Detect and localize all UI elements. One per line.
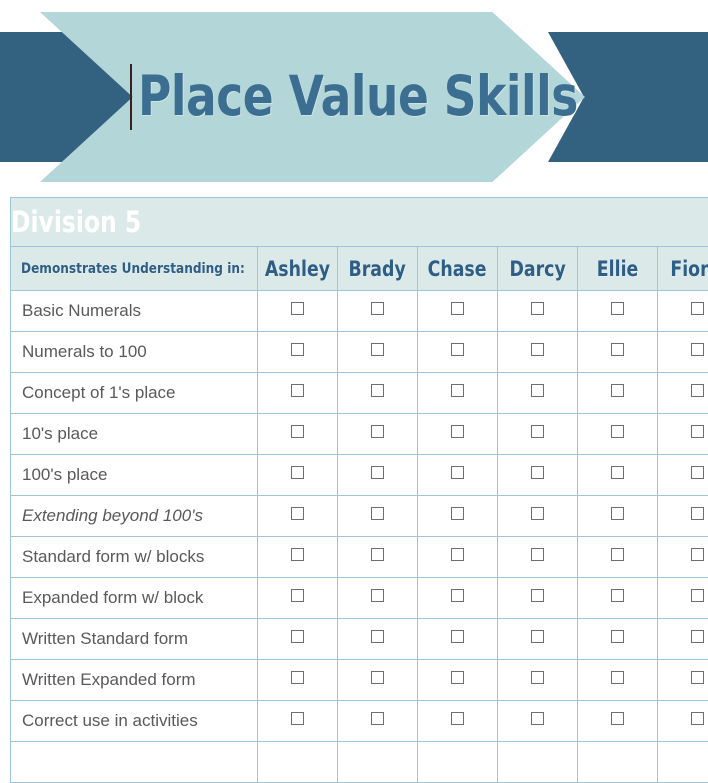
checkbox-cell[interactable] [498,373,578,414]
checkbox-icon[interactable] [451,548,464,561]
checkbox-icon[interactable] [371,466,384,479]
skill-label-cell: Written Expanded form [11,660,258,701]
skill-label-cell: Extending beyond 100's [11,496,258,537]
checkbox-cell[interactable] [418,414,498,455]
checkbox-icon[interactable] [611,630,624,643]
checkbox-cell[interactable] [418,332,498,373]
checkbox-icon[interactable] [291,343,304,356]
checkbox-cell[interactable] [338,619,418,660]
student-name-label: Fiona [671,257,708,281]
checkbox-cell[interactable] [258,660,338,701]
student-name-label: Darcy [509,257,565,281]
checkbox-cell[interactable] [577,578,657,619]
checkbox-cell[interactable] [657,660,708,701]
checkbox-cell[interactable] [258,373,338,414]
page-title: Place Value Skills [138,60,578,144]
checkbox-cell[interactable] [338,291,418,332]
checkbox-cell[interactable] [498,291,578,332]
checkbox-cell[interactable] [498,537,578,578]
checkbox-icon[interactable] [291,425,304,438]
checkbox-cell[interactable] [258,496,338,537]
checkbox-cell[interactable] [418,291,498,332]
checkbox-cell[interactable] [657,414,708,455]
checkbox-icon[interactable] [611,466,624,479]
table-row: 10's place [11,414,708,455]
table-row: Written Expanded form [11,660,708,701]
checkbox-cell[interactable] [577,332,657,373]
checkbox-icon[interactable] [611,425,624,438]
checkbox-cell[interactable] [258,742,338,783]
checkbox-icon[interactable] [531,302,544,315]
checkbox-cell[interactable] [338,332,418,373]
checkbox-icon[interactable] [611,343,624,356]
checkbox-cell[interactable] [418,455,498,496]
checkbox-icon[interactable] [691,630,704,643]
checkbox-cell[interactable] [258,619,338,660]
checkbox-icon[interactable] [531,630,544,643]
checkbox-icon[interactable] [611,548,624,561]
checkbox-icon[interactable] [611,589,624,602]
checkbox-cell[interactable] [577,496,657,537]
skill-label-cell [11,742,258,783]
skills-table: Division 5 Demonstrates Understanding in… [10,197,708,783]
checkbox-icon[interactable] [611,712,624,725]
skill-label-cell: Basic Numerals [11,291,258,332]
checkbox-cell[interactable] [577,660,657,701]
checkbox-icon[interactable] [451,343,464,356]
checkbox-icon[interactable] [691,548,704,561]
checkbox-cell[interactable] [577,742,657,783]
checkbox-cell[interactable] [657,373,708,414]
table-head: Division 5 Demonstrates Understanding in… [11,198,708,291]
checkbox-cell[interactable] [657,332,708,373]
student-column-header-ashley[interactable]: Ashley [258,247,338,291]
student-column-header-ellie[interactable]: Ellie [577,247,657,291]
skill-label-cell: Standard form w/ blocks [11,537,258,578]
checkbox-icon[interactable] [691,302,704,315]
student-column-header-brady[interactable]: Brady [338,247,418,291]
checkbox-icon[interactable] [291,671,304,684]
table-row: Extending beyond 100's [11,496,708,537]
skill-label-cell: Concept of 1's place [11,373,258,414]
checkbox-cell[interactable] [418,578,498,619]
checkbox-icon[interactable] [451,302,464,315]
checkbox-cell[interactable] [338,455,418,496]
checkbox-cell[interactable] [657,578,708,619]
table-row: Correct use in activities [11,701,708,742]
skill-label: Written Standard form [22,629,188,648]
skill-label: Written Expanded form [22,670,196,689]
skill-label-cell: Numerals to 100 [11,332,258,373]
checkbox-cell[interactable] [338,660,418,701]
checkbox-icon[interactable] [691,507,704,520]
checkbox-cell[interactable] [657,455,708,496]
student-name-label: Ashley [265,257,330,281]
checkbox-cell[interactable] [577,291,657,332]
checkbox-cell[interactable] [338,578,418,619]
checkbox-cell[interactable] [498,701,578,742]
table-row: 100's place [11,455,708,496]
skill-label: Extending beyond 100's [22,506,203,525]
checkbox-icon[interactable] [291,630,304,643]
student-column-header-fiona[interactable]: Fiona [657,247,708,291]
checkbox-cell[interactable] [577,701,657,742]
checkbox-icon[interactable] [451,630,464,643]
checkbox-icon[interactable] [371,548,384,561]
checkbox-icon[interactable] [451,671,464,684]
checkbox-cell[interactable] [258,332,338,373]
checkbox-icon[interactable] [451,384,464,397]
checkbox-icon[interactable] [291,384,304,397]
skill-label-cell: Expanded form w/ block [11,578,258,619]
division-header-cell: Division 5 [11,198,708,247]
checkbox-cell[interactable] [657,291,708,332]
checkbox-cell[interactable] [338,742,418,783]
skills-table-container: Division 5 Demonstrates Understanding in… [10,197,708,783]
table-row: Written Standard form [11,619,708,660]
checkbox-cell[interactable] [498,742,578,783]
checkbox-icon[interactable] [531,712,544,725]
checkbox-icon[interactable] [291,302,304,315]
checkbox-icon[interactable] [691,384,704,397]
table-row: Standard form w/ blocks [11,537,708,578]
skill-label-cell: Written Standard form [11,619,258,660]
checkbox-icon[interactable] [291,712,304,725]
division-label: Division 5 [11,205,141,239]
table-row: Numerals to 100 [11,332,708,373]
checkbox-cell[interactable] [418,660,498,701]
checkbox-icon[interactable] [611,302,624,315]
checkbox-cell[interactable] [338,537,418,578]
checkbox-icon[interactable] [611,671,624,684]
skill-label: Correct use in activities [22,711,198,730]
banner-title-group[interactable]: Place Value Skills [130,60,616,144]
checkbox-cell[interactable] [657,537,708,578]
checkbox-cell[interactable] [258,537,338,578]
student-column-header-darcy[interactable]: Darcy [498,247,578,291]
student-column-header-chase[interactable]: Chase [418,247,498,291]
checkbox-cell[interactable] [577,414,657,455]
checkbox-cell[interactable] [577,455,657,496]
skill-column-header-label: Demonstrates Understanding in: [21,261,245,277]
checkbox-cell[interactable] [258,291,338,332]
checkbox-icon[interactable] [291,466,304,479]
checkbox-cell[interactable] [338,701,418,742]
checkbox-icon[interactable] [291,507,304,520]
checkbox-icon[interactable] [291,589,304,602]
checkbox-cell[interactable] [498,332,578,373]
skill-label: Expanded form w/ block [22,588,203,607]
checkbox-cell[interactable] [498,455,578,496]
checkbox-icon[interactable] [371,671,384,684]
checkbox-icon[interactable] [371,589,384,602]
checkbox-icon[interactable] [451,466,464,479]
checkbox-cell[interactable] [258,578,338,619]
checkbox-icon[interactable] [371,343,384,356]
checkbox-icon[interactable] [371,507,384,520]
checkbox-icon[interactable] [371,384,384,397]
skill-label: Numerals to 100 [22,342,147,361]
skill-label-cell: 10's place [11,414,258,455]
checkbox-cell[interactable] [418,742,498,783]
checkbox-cell[interactable] [577,537,657,578]
student-name-label: Chase [428,257,487,281]
skill-label: Concept of 1's place [22,383,176,402]
checkbox-cell[interactable] [657,619,708,660]
checkbox-cell[interactable] [498,496,578,537]
skill-label: 100's place [22,465,107,484]
checkbox-icon[interactable] [371,712,384,725]
checkbox-icon[interactable] [531,548,544,561]
column-header-row: Demonstrates Understanding in: Ashley Br… [11,247,708,291]
checkbox-icon[interactable] [611,384,624,397]
checkbox-cell[interactable] [338,496,418,537]
table-body: Basic NumeralsNumerals to 100Concept of … [11,291,708,783]
checkbox-icon[interactable] [451,507,464,520]
checkbox-cell[interactable] [657,701,708,742]
checkbox-cell[interactable] [418,373,498,414]
checkbox-icon[interactable] [451,589,464,602]
checkbox-icon[interactable] [691,425,704,438]
checkbox-cell[interactable] [657,742,708,783]
checkbox-cell[interactable] [498,660,578,701]
student-name-label: Ellie [597,257,639,281]
page-banner: Place Value Skills [0,0,708,193]
checkbox-icon[interactable] [531,589,544,602]
checkbox-icon[interactable] [371,425,384,438]
checkbox-icon[interactable] [371,630,384,643]
checkbox-cell[interactable] [418,619,498,660]
text-cursor-icon [130,64,132,130]
checkbox-icon[interactable] [691,712,704,725]
checkbox-cell[interactable] [498,578,578,619]
table-row: Concept of 1's place [11,373,708,414]
student-name-label: Brady [349,257,406,281]
skill-label-cell: Correct use in activities [11,701,258,742]
checkbox-cell[interactable] [657,496,708,537]
table-row: Expanded form w/ block [11,578,708,619]
checkbox-cell[interactable] [258,455,338,496]
checkbox-cell[interactable] [577,373,657,414]
checkbox-icon[interactable] [531,507,544,520]
checkbox-icon[interactable] [371,302,384,315]
checkbox-cell[interactable] [258,701,338,742]
checkbox-icon[interactable] [451,712,464,725]
checkbox-icon[interactable] [531,384,544,397]
checkbox-icon[interactable] [691,343,704,356]
checkbox-icon[interactable] [531,466,544,479]
checkbox-icon[interactable] [691,589,704,602]
checkbox-icon[interactable] [691,466,704,479]
checkbox-icon[interactable] [611,507,624,520]
skill-label: Standard form w/ blocks [22,547,204,566]
checkbox-icon[interactable] [691,671,704,684]
checkbox-cell[interactable] [258,414,338,455]
checkbox-cell[interactable] [498,414,578,455]
checkbox-cell[interactable] [418,537,498,578]
checkbox-cell[interactable] [338,373,418,414]
table-row [11,742,708,783]
checkbox-cell[interactable] [418,496,498,537]
division-row: Division 5 [11,198,708,247]
checkbox-cell[interactable] [577,619,657,660]
checkbox-icon[interactable] [531,343,544,356]
skill-column-header: Demonstrates Understanding in: [11,247,258,291]
checkbox-cell[interactable] [498,619,578,660]
skill-label: 10's place [22,424,98,443]
checkbox-icon[interactable] [291,548,304,561]
checkbox-icon[interactable] [451,425,464,438]
checkbox-icon[interactable] [531,671,544,684]
checkbox-cell[interactable] [338,414,418,455]
checkbox-cell[interactable] [418,701,498,742]
skill-label-cell: 100's place [11,455,258,496]
checkbox-icon[interactable] [531,425,544,438]
skill-label: Basic Numerals [22,301,141,320]
table-row: Basic Numerals [11,291,708,332]
